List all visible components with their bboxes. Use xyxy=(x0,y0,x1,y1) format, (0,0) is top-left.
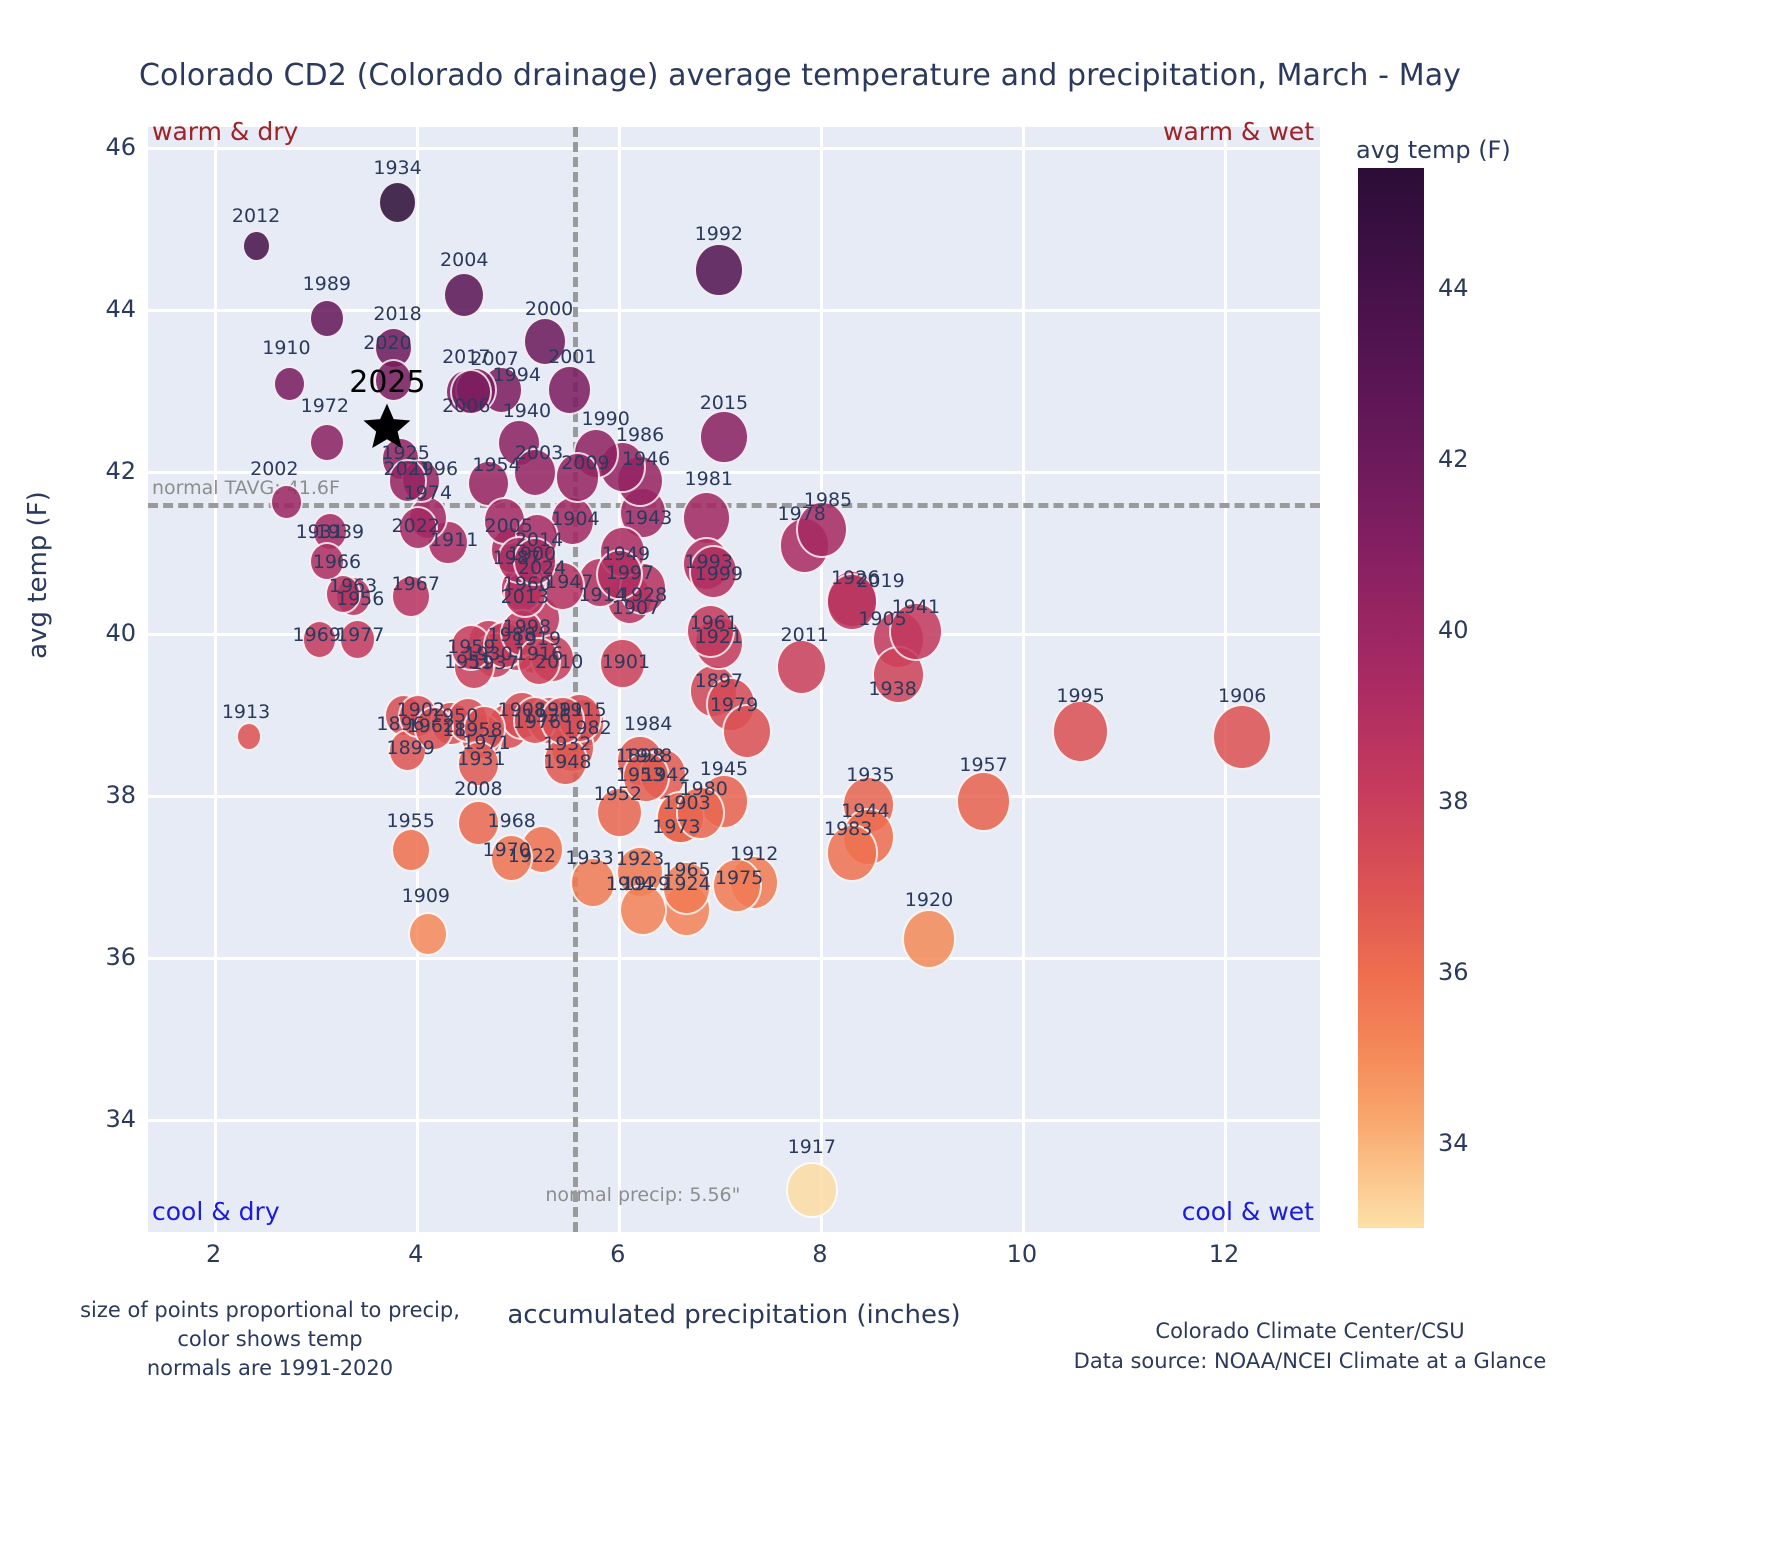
scatter-point[interactable] xyxy=(414,706,455,751)
gridline-v xyxy=(416,127,419,1232)
scatter-point[interactable] xyxy=(826,824,878,882)
y-tick-label: 36 xyxy=(66,943,136,971)
scatter-point[interactable] xyxy=(339,619,376,660)
colorbar-tick-label: 42 xyxy=(1438,445,1469,473)
scatter-point[interactable] xyxy=(490,834,533,882)
point-year-label: 2017 xyxy=(442,346,490,368)
scatter-point[interactable] xyxy=(408,912,448,956)
x-tick-label: 12 xyxy=(1184,1240,1264,1268)
quadrant-label-cool-wet: cool & wet xyxy=(1182,1197,1314,1226)
y-tick-label: 44 xyxy=(66,295,136,323)
colorbar-tick-label: 36 xyxy=(1438,958,1469,986)
size-note: size of points proportional to precip,co… xyxy=(60,1296,480,1383)
scatter-point[interactable] xyxy=(309,299,345,338)
colorbar-gradient xyxy=(1358,168,1424,1228)
scatter-point[interactable] xyxy=(622,751,669,803)
note-line: Colorado Climate Center/CSU xyxy=(1000,1316,1620,1346)
scatter-point[interactable] xyxy=(796,501,848,558)
scatter-point[interactable] xyxy=(391,828,431,872)
colorbar xyxy=(1358,168,1424,1228)
point-year-label: 2012 xyxy=(232,205,280,227)
gridline-v xyxy=(1224,127,1227,1232)
note-line: color shows temp xyxy=(60,1325,480,1354)
scatter-point[interactable] xyxy=(619,884,666,936)
point-year-label: 1934 xyxy=(373,157,421,179)
scatter-point[interactable] xyxy=(513,537,557,586)
point-year-label: 1913 xyxy=(222,701,270,723)
point-year-label: 1909 xyxy=(402,885,450,907)
scatter-point[interactable] xyxy=(662,861,711,914)
scatter-point[interactable] xyxy=(889,602,943,661)
normal-precip-label: normal precip: 5.56" xyxy=(545,1184,740,1206)
gridline-h xyxy=(148,147,1320,150)
scatter-point[interactable] xyxy=(391,575,431,619)
y-axis-label: avg temp (F) xyxy=(23,425,53,725)
x-tick-label: 6 xyxy=(578,1240,658,1268)
scatter-point[interactable] xyxy=(309,423,345,462)
x-tick-label: 10 xyxy=(982,1240,1062,1268)
scatter-point[interactable] xyxy=(513,448,557,497)
scatter-point[interactable] xyxy=(398,506,438,550)
scatter-plot-area: normal TAVG: 41.6F normal precip: 5.56" … xyxy=(148,127,1320,1232)
colorbar-tick-label: 34 xyxy=(1438,1129,1469,1157)
scatter-point[interactable] xyxy=(242,230,271,262)
scatter-point[interactable] xyxy=(1212,704,1272,770)
scatter-point[interactable] xyxy=(273,366,306,402)
chart-title: Colorado CD2 (Colorado drainage) average… xyxy=(0,58,1600,93)
scatter-point[interactable] xyxy=(547,365,592,415)
gridline-h xyxy=(148,957,1320,960)
scatter-point[interactable] xyxy=(517,637,561,686)
y-tick-label: 34 xyxy=(66,1105,136,1133)
scatter-point[interactable] xyxy=(786,1162,838,1219)
highlight-label-2025: 2025 xyxy=(349,365,425,400)
scatter-point[interactable] xyxy=(956,771,1011,832)
scatter-point[interactable] xyxy=(443,272,485,318)
scatter-point[interactable] xyxy=(676,786,725,840)
scatter-point[interactable] xyxy=(309,542,345,581)
y-tick-label: 38 xyxy=(66,781,136,809)
point-year-label: 1917 xyxy=(788,1136,836,1158)
star-marker-icon xyxy=(361,402,413,452)
x-tick-label: 4 xyxy=(376,1240,456,1268)
point-year-label: 1990 xyxy=(581,408,629,430)
quadrant-label-warm-dry: warm & dry xyxy=(152,117,298,146)
quadrant-label-warm-wet: warm & wet xyxy=(1163,117,1314,146)
scatter-point[interactable] xyxy=(457,800,499,847)
scatter-point[interactable] xyxy=(712,858,762,913)
y-tick-label: 46 xyxy=(66,133,136,161)
gridline-h xyxy=(148,1119,1320,1122)
scatter-point[interactable] xyxy=(236,722,262,751)
colorbar-tick-label: 44 xyxy=(1438,274,1469,302)
gridline-h xyxy=(148,471,1320,474)
x-tick-label: 8 xyxy=(780,1240,860,1268)
scatter-point[interactable] xyxy=(302,620,337,659)
colorbar-tick-label: 40 xyxy=(1438,616,1469,644)
colorbar-title: avg temp (F) xyxy=(1356,136,1511,164)
gridline-v xyxy=(214,127,217,1232)
point-year-label: 1920 xyxy=(905,889,953,911)
scatter-point[interactable] xyxy=(378,181,417,224)
scatter-point[interactable] xyxy=(599,638,646,690)
colorbar-tick-label: 38 xyxy=(1438,787,1469,815)
scatter-point[interactable] xyxy=(540,696,585,746)
normal-tavg-label: normal TAVG: 41.6F xyxy=(152,477,340,499)
scatter-point[interactable] xyxy=(902,909,956,969)
credit-note: Colorado Climate Center/CSUData source: … xyxy=(1000,1316,1620,1377)
point-year-label: 1972 xyxy=(301,395,349,417)
scatter-point[interactable] xyxy=(826,573,878,631)
scatter-point[interactable] xyxy=(450,369,492,415)
point-year-label: 1992 xyxy=(695,223,743,245)
scatter-point[interactable] xyxy=(388,459,428,503)
scatter-point[interactable] xyxy=(555,452,601,502)
scatter-point[interactable] xyxy=(570,857,616,908)
x-tick-label: 2 xyxy=(174,1240,254,1268)
point-year-label: 2018 xyxy=(373,303,421,325)
normal-precip-line xyxy=(573,127,578,1232)
scatter-point[interactable] xyxy=(694,243,743,297)
scatter-point[interactable] xyxy=(457,741,499,788)
point-year-label: 1989 xyxy=(303,273,351,295)
point-year-label: 1984 xyxy=(624,713,672,735)
note-line: Data source: NOAA/NCEI Climate at a Glan… xyxy=(1000,1346,1620,1376)
note-line: normals are 1991-2020 xyxy=(60,1354,480,1383)
point-year-label: 2004 xyxy=(440,249,488,271)
note-line: size of points proportional to precip, xyxy=(60,1296,480,1325)
scatter-point[interactable] xyxy=(270,484,303,520)
scatter-point[interactable] xyxy=(722,704,772,759)
scatter-point[interactable] xyxy=(699,410,749,464)
quadrant-label-cool-dry: cool & dry xyxy=(152,1197,280,1226)
scatter-point[interactable] xyxy=(689,545,738,599)
scatter-point[interactable] xyxy=(776,639,827,695)
scatter-point[interactable] xyxy=(1052,700,1109,763)
y-tick-label: 42 xyxy=(66,457,136,485)
scatter-point[interactable] xyxy=(523,317,568,366)
point-year-label: 1910 xyxy=(262,337,310,359)
gridline-v xyxy=(1022,127,1025,1232)
normal-tavg-line xyxy=(148,503,1320,508)
y-tick-label: 40 xyxy=(66,619,136,647)
